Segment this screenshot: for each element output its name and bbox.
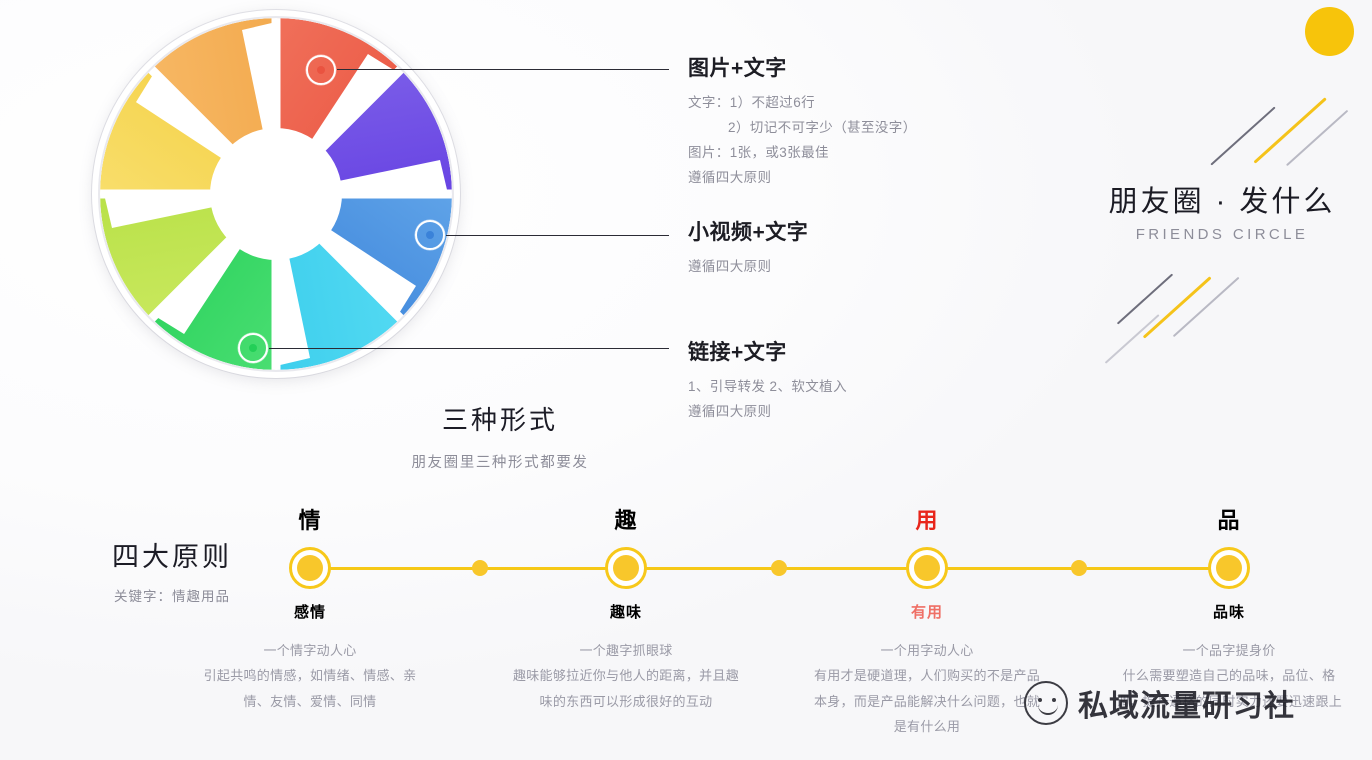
principle-word-1: 感情 bbox=[250, 601, 370, 622]
principle-desc-1-line1: 一个情字动人心 bbox=[195, 638, 425, 663]
principle-desc-2-line1: 一个趣字抓眼球 bbox=[511, 638, 741, 663]
aperture-node-image-text[interactable] bbox=[306, 55, 336, 85]
form-heading-video-text: 小视频+文字 bbox=[688, 216, 1068, 246]
principle-marker-core-4 bbox=[1216, 555, 1242, 581]
timeline-midpoint-2 bbox=[771, 560, 787, 576]
stripe-gray-2 bbox=[1286, 110, 1348, 166]
form-block-image-text: 图片+文字 文字：1）不超过6行 2）切记不可字少（甚至没字） 图片：1张，或3… bbox=[688, 52, 1068, 191]
brand-title-cn: 朋友圈 · 发什么 bbox=[1097, 178, 1347, 220]
slide-canvas: 图片+文字 文字：1）不超过6行 2）切记不可字少（甚至没字） 图片：1张，或3… bbox=[0, 0, 1372, 760]
stripes-decor-bottom bbox=[1100, 250, 1290, 360]
watermark-text: 私域流量研习社 bbox=[1078, 681, 1295, 725]
brand-title-block: 朋友圈 · 发什么 FRIENDS CIRCLE bbox=[1097, 178, 1347, 243]
principle-marker-1[interactable] bbox=[289, 547, 331, 589]
aperture-node-link-text[interactable] bbox=[238, 333, 268, 363]
principle-marker-core-2 bbox=[613, 555, 639, 581]
stripe-yellow-1 bbox=[1253, 97, 1326, 163]
form-block-link-text: 链接+文字 1、引导转发 2、软文植入 遵循四大原则 bbox=[688, 336, 1068, 425]
principle-desc-2: 一个趣字抓眼球 趣味能够拉近你与他人的距离，并且趣味的东西可以形成很好的互动 bbox=[511, 638, 741, 714]
principle-desc-3: 一个用字动人心 有用才是硬道理，人们购买的不是产品本身，而是产品能解决什么问题，… bbox=[812, 638, 1042, 739]
principle-desc-2-line2: 趣味能够拉近你与他人的距离，并且趣味的东西可以形成很好的互动 bbox=[511, 663, 741, 714]
four-principles-title: 四大原则 bbox=[67, 535, 277, 574]
logo-eye-right bbox=[1052, 698, 1056, 702]
principle-key-3: 用 bbox=[882, 503, 972, 535]
form-heading-image-text: 图片+文字 bbox=[688, 52, 1068, 82]
stripe-gray-3 bbox=[1117, 273, 1173, 324]
leader-line-video-text bbox=[446, 235, 669, 236]
smiley-face-logo-icon bbox=[1024, 681, 1068, 725]
form-line-image-text-4: 遵循四大原则 bbox=[688, 166, 1068, 191]
watermark: 私域流量研习社 bbox=[1024, 672, 1354, 734]
form-line-image-text-1: 文字：1）不超过6行 bbox=[688, 91, 1068, 116]
form-line-image-text-3: 图片：1张，或3张最佳 bbox=[688, 141, 1068, 166]
principle-key-2: 趣 bbox=[581, 503, 671, 535]
principle-marker-2[interactable] bbox=[605, 547, 647, 589]
principle-desc-3-line2: 有用才是硬道理，人们购买的不是产品本身，而是产品能解决什么问题，也就是有什么用 bbox=[812, 663, 1042, 739]
timeline-midpoint-3 bbox=[1071, 560, 1087, 576]
three-forms-caption: 三种形式 朋友圈里三种形式都要发 bbox=[300, 400, 700, 472]
three-forms-subtitle: 朋友圈里三种形式都要发 bbox=[300, 451, 700, 472]
logo-eye-left bbox=[1038, 698, 1042, 702]
principle-desc-1: 一个情字动人心 引起共鸣的情感，如情绪、情感、亲情、友情、爱情、同情 bbox=[195, 638, 425, 714]
principle-marker-3[interactable] bbox=[906, 547, 948, 589]
principle-marker-core-3 bbox=[914, 555, 940, 581]
stripe-gray-4 bbox=[1173, 277, 1239, 337]
leader-line-link-text bbox=[269, 348, 669, 349]
stripe-gray-5 bbox=[1105, 314, 1160, 363]
form-line-link-text-1: 1、引导转发 2、软文植入 bbox=[688, 375, 1068, 400]
timeline-midpoint-1 bbox=[472, 560, 488, 576]
three-forms-title: 三种形式 bbox=[300, 400, 700, 437]
principle-desc-1-line2: 引起共鸣的情感，如情绪、情感、亲情、友情、爱情、同情 bbox=[195, 663, 425, 714]
principle-desc-4-line1: 一个品字提身价 bbox=[1114, 638, 1344, 663]
four-principles-subtitle: 关键字：情趣用品 bbox=[67, 585, 277, 605]
form-line-link-text-2: 遵循四大原则 bbox=[688, 400, 1068, 425]
four-principles-title-block: 四大原则 关键字：情趣用品 bbox=[67, 535, 277, 605]
form-heading-link-text: 链接+文字 bbox=[688, 336, 1068, 366]
aperture-diagram bbox=[92, 10, 472, 390]
principle-marker-4[interactable] bbox=[1208, 547, 1250, 589]
principle-key-4: 品 bbox=[1184, 503, 1274, 535]
node-dot-image-text bbox=[317, 66, 325, 74]
principle-word-2: 趣味 bbox=[566, 601, 686, 622]
form-line-video-text-1: 遵循四大原则 bbox=[688, 255, 1068, 280]
aperture-blades-svg bbox=[92, 10, 460, 378]
sun-circle-decor bbox=[1305, 7, 1354, 56]
principle-word-3: 有用 bbox=[867, 601, 987, 622]
form-line-image-text-2: 2）切记不可字少（甚至没字） bbox=[688, 116, 1068, 141]
form-block-video-text: 小视频+文字 遵循四大原则 bbox=[688, 216, 1068, 280]
stripe-yellow-2 bbox=[1143, 276, 1212, 338]
aperture-node-video-text[interactable] bbox=[415, 220, 445, 250]
node-dot-link-text bbox=[249, 344, 257, 352]
leader-line-image-text bbox=[337, 69, 669, 70]
principle-marker-core-1 bbox=[297, 555, 323, 581]
principle-desc-3-line1: 一个用字动人心 bbox=[812, 638, 1042, 663]
stripe-gray-1 bbox=[1210, 106, 1275, 165]
principle-word-4: 品味 bbox=[1169, 601, 1289, 622]
brand-title-en: FRIENDS CIRCLE bbox=[1097, 226, 1347, 243]
node-dot-video-text bbox=[426, 231, 434, 239]
logo-mouth bbox=[1038, 705, 1058, 715]
principle-key-1: 情 bbox=[265, 503, 355, 535]
